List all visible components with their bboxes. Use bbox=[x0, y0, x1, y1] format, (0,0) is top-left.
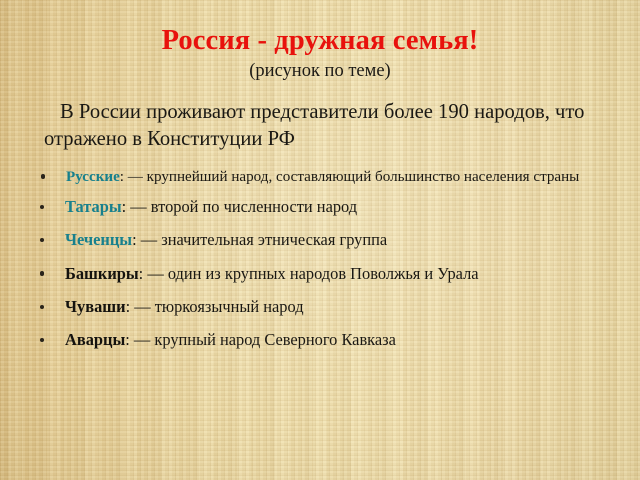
list-item: Чуваши: — тюркоязычный народ bbox=[30, 296, 622, 318]
title-block: Россия - дружная семья! (рисунок по теме… bbox=[0, 0, 640, 82]
people-description: один из крупных народов Поволжья и Урала bbox=[168, 264, 479, 283]
list-item: Русские: — крупнейший народ, составляющи… bbox=[30, 167, 622, 188]
intro-paragraph: В России проживают представители более 1… bbox=[0, 99, 640, 153]
bullet-dot-icon bbox=[41, 174, 45, 178]
slide-subtitle: (рисунок по теме) bbox=[0, 61, 640, 82]
bullet-dot-icon bbox=[40, 238, 44, 242]
list-item: Татары: — второй по численности народ bbox=[30, 196, 622, 218]
people-name: Чуваши bbox=[65, 297, 126, 316]
people-name: Русские bbox=[59, 169, 120, 185]
people-description: крупнейший народ, составляющий большинст… bbox=[147, 169, 580, 185]
list-item: Чеченцы: — значительная этническая групп… bbox=[30, 229, 622, 251]
list-item: Башкиры: — один из крупных народов Повол… bbox=[30, 263, 622, 285]
people-separator: : — bbox=[125, 330, 154, 349]
people-name: Чеченцы bbox=[65, 230, 132, 249]
people-name: Башкиры bbox=[65, 264, 139, 283]
presentation-slide: Россия - дружная семья! (рисунок по теме… bbox=[0, 0, 640, 480]
bullet-dot-icon bbox=[40, 305, 44, 309]
people-separator: : — bbox=[126, 297, 155, 316]
people-name: Татары bbox=[65, 197, 122, 216]
list-item: Аварцы: — крупный народ Северного Кавказ… bbox=[30, 329, 622, 351]
people-separator: : — bbox=[120, 169, 147, 185]
people-name: Аварцы bbox=[65, 330, 125, 349]
page-title: Россия - дружная семья! bbox=[0, 26, 640, 57]
people-separator: : — bbox=[139, 264, 168, 283]
people-description: значительная этническая группа bbox=[161, 230, 387, 249]
bullet-dot-icon bbox=[40, 338, 44, 342]
people-description: крупный народ Северного Кавказа bbox=[154, 330, 396, 349]
slide-content: Россия - дружная семья! (рисунок по теме… bbox=[0, 0, 640, 480]
bullet-dot-icon bbox=[40, 271, 44, 275]
peoples-list: Русские: — крупнейший народ, составляющи… bbox=[0, 167, 640, 352]
people-separator: : — bbox=[132, 230, 161, 249]
people-description: тюркоязычный народ bbox=[155, 297, 304, 316]
people-separator: : — bbox=[122, 197, 151, 216]
people-description: второй по численности народ bbox=[151, 197, 357, 216]
bullet-dot-icon bbox=[40, 205, 44, 209]
